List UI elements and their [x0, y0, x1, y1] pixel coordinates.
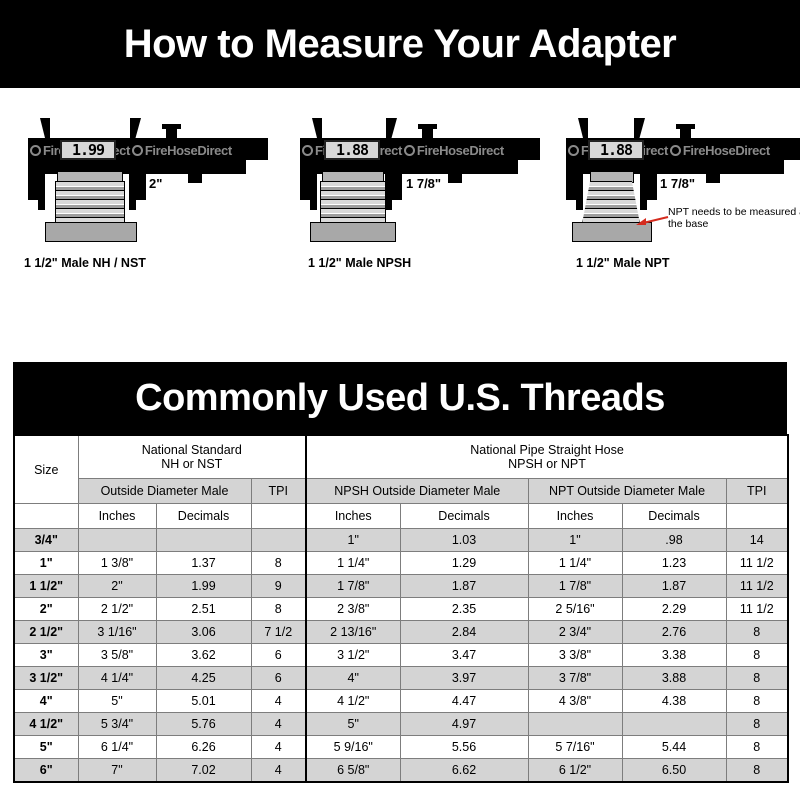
- cell-size: 3": [14, 644, 78, 667]
- caliper-upper-knife-right-icon: [386, 118, 397, 140]
- caliper-fixed-jaw-tip: [310, 194, 317, 210]
- col-header-npsh-decimals: Decimals: [400, 504, 528, 529]
- cell-nh_in: 5 3/4": [78, 713, 156, 736]
- cell-npsh_dec: 4.47: [400, 690, 528, 713]
- table-row: 4 1/2"5 3/4"5.7645"4.978: [14, 713, 788, 736]
- cell-size: 2 1/2": [14, 621, 78, 644]
- table-head: Size National Standard NH or NST Nationa…: [14, 435, 788, 529]
- cell-tpi: 14: [726, 529, 788, 552]
- group-line-1: National Standard: [79, 443, 306, 457]
- cell-npsh_in: 2 3/8": [306, 598, 400, 621]
- caliper-sliding-jaw-tip: [385, 194, 392, 210]
- cell-nh_dec: 5.76: [156, 713, 251, 736]
- cell-npsh_in: 1 1/4": [306, 552, 400, 575]
- table-header-row-groups: Size National Standard NH or NST Nationa…: [14, 435, 788, 479]
- caliper-illustration: FireHoseDirectFireHoseDirect 1.88 1 7/8"…: [548, 110, 800, 250]
- table-row: 6"7"7.0246 5/8"6.626 1/2"6.508: [14, 759, 788, 783]
- caliper-upper-knife-left-icon: [40, 118, 50, 140]
- cell-nh_dec: 3.06: [156, 621, 251, 644]
- caliper-sliding-jaw-tip: [129, 194, 136, 210]
- cell-nh_in: 6 1/4": [78, 736, 156, 759]
- cell-tpi: 8: [726, 621, 788, 644]
- cell-nh_tpi: 6: [251, 667, 306, 690]
- caliper-fixed-jaw: [300, 138, 317, 200]
- cell-nh_dec: 6.26: [156, 736, 251, 759]
- diagram-caption: 1 1/2" Male NPT: [548, 256, 800, 270]
- cell-tpi: 8: [726, 736, 788, 759]
- cell-nh_dec: 5.01: [156, 690, 251, 713]
- diagram-caption: 1 1/2" Male NPSH: [282, 256, 570, 270]
- cell-npsh_dec: 1.87: [400, 575, 528, 598]
- cell-nh_in: 3 1/16": [78, 621, 156, 644]
- col-header-npt-inches: Inches: [528, 504, 622, 529]
- cell-nh_in: 1 3/8": [78, 552, 156, 575]
- group-line-2: NH or NST: [79, 457, 306, 471]
- cell-npt_dec: 6.50: [622, 759, 726, 783]
- cell-npsh_in: 4 1/2": [306, 690, 400, 713]
- fitting-base: [310, 222, 396, 242]
- caliper-fixed-jaw-tip: [38, 194, 45, 210]
- cell-size: 1 1/2": [14, 575, 78, 598]
- cell-npt_dec: [622, 713, 726, 736]
- threads-table: Size National Standard NH or NST Nationa…: [13, 434, 789, 783]
- cell-nh_tpi: 8: [251, 598, 306, 621]
- cell-nh_dec: [156, 529, 251, 552]
- cell-nh_dec: 2.51: [156, 598, 251, 621]
- table-row: 5"6 1/4"6.2645 9/16"5.565 7/16"5.448: [14, 736, 788, 759]
- caliper-lcd-display: 1.88: [588, 140, 644, 160]
- cell-npsh_in: 5": [306, 713, 400, 736]
- cell-tpi: 8: [726, 667, 788, 690]
- cell-npt_dec: 3.38: [622, 644, 726, 667]
- cell-npt_dec: 5.44: [622, 736, 726, 759]
- cell-npsh_dec: 3.97: [400, 667, 528, 690]
- cell-npsh_in: 3 1/2": [306, 644, 400, 667]
- cell-size: 4": [14, 690, 78, 713]
- cell-nh_tpi: 7 1/2: [251, 621, 306, 644]
- caliper-lcd-display: 1.88: [324, 140, 380, 160]
- cell-npt_in: 1": [528, 529, 622, 552]
- cell-size: 4 1/2": [14, 713, 78, 736]
- caliper-sliding-jaw: [129, 138, 146, 200]
- cell-tpi: 11 1/2: [726, 575, 788, 598]
- cell-npt_in: 3 7/8": [528, 667, 622, 690]
- table-body: 3/4"1"1.031".98141"1 3/8"1.3781 1/4"1.29…: [14, 529, 788, 783]
- caliper-lock-lug: [188, 174, 202, 183]
- col-header-npt-tpi: TPI: [726, 479, 788, 504]
- cell-npsh_in: 1": [306, 529, 400, 552]
- cell-nh_dec: 7.02: [156, 759, 251, 783]
- threads-table-section: Commonly Used U.S. Threads Size National…: [13, 362, 787, 787]
- cell-npt_in: 5 7/16": [528, 736, 622, 759]
- caliper-upper-knife-left-icon: [312, 118, 322, 140]
- table-row: 4"5"5.0144 1/2"4.474 3/8"4.388: [14, 690, 788, 713]
- cell-npsh_dec: 4.97: [400, 713, 528, 736]
- caliper-sliding-jaw-tip: [640, 194, 647, 210]
- col-header-nh-inches: Inches: [78, 504, 156, 529]
- cell-nh_dec: 1.99: [156, 575, 251, 598]
- cell-nh_tpi: 4: [251, 713, 306, 736]
- cell-nh_tpi: 8: [251, 552, 306, 575]
- cell-npt_dec: 3.88: [622, 667, 726, 690]
- cell-npt_in: 3 3/8": [528, 644, 622, 667]
- caliper-upper-knife-right-icon: [130, 118, 141, 140]
- cell-npt_in: 4 3/8": [528, 690, 622, 713]
- page-title: How to Measure Your Adapter: [0, 0, 800, 88]
- diagram-nh-nst: FireHoseDirectFireHoseDirect 1.99 2" 1 1…: [10, 88, 272, 356]
- dimension-label: 1 7/8": [406, 176, 441, 191]
- cell-npsh_dec: 6.62: [400, 759, 528, 783]
- cell-npt_dec: 1.87: [622, 575, 726, 598]
- fitting-threads: [55, 181, 125, 224]
- col-header-size-blank: [14, 504, 78, 529]
- cell-npt_dec: 2.29: [622, 598, 726, 621]
- caliper-upper-knife-left-icon: [578, 118, 588, 140]
- cell-npt_in: 2 5/16": [528, 598, 622, 621]
- dimension-label: 2": [149, 176, 162, 191]
- cell-npsh_dec: 3.47: [400, 644, 528, 667]
- caliper-illustration: FireHoseDirectFireHoseDirect 1.99 2": [10, 110, 272, 250]
- table-row: 2"2 1/2"2.5182 3/8"2.352 5/16"2.2911 1/2: [14, 598, 788, 621]
- cell-tpi: 8: [726, 713, 788, 736]
- diagram-npsh: FireHoseDirectFireHoseDirect 1.88 1 7/8"…: [282, 88, 544, 356]
- cell-npt_in: [528, 713, 622, 736]
- cell-nh_in: 5": [78, 690, 156, 713]
- cell-nh_in: 4 1/4": [78, 667, 156, 690]
- cell-nh_in: 2": [78, 575, 156, 598]
- cell-tpi: 8: [726, 644, 788, 667]
- npt-note-text: NPT needs to be measured at the base: [668, 206, 800, 230]
- cell-size: 6": [14, 759, 78, 783]
- col-header-nh-od: Outside Diameter Male: [78, 479, 251, 504]
- caliper-fixed-jaw-tip: [576, 194, 583, 210]
- cell-npsh_in: 4": [306, 667, 400, 690]
- caliper-lock-lug: [706, 174, 720, 183]
- cell-nh_in: 2 1/2": [78, 598, 156, 621]
- cell-npsh_in: 1 7/8": [306, 575, 400, 598]
- table-header-row-subheaders: Outside Diameter Male TPI NPSH Outside D…: [14, 479, 788, 504]
- fitting-base: [45, 222, 137, 242]
- cell-size: 3 1/2": [14, 667, 78, 690]
- caliper-lock-lug: [448, 174, 462, 183]
- cell-npt_in: 2 3/4": [528, 621, 622, 644]
- caliper-illustration: FireHoseDirectFireHoseDirect 1.88 1 7/8": [282, 110, 544, 250]
- caliper-fixed-jaw: [28, 138, 45, 200]
- cell-nh_tpi: 4: [251, 736, 306, 759]
- cell-npt_in: 1 7/8": [528, 575, 622, 598]
- cell-npsh_dec: 5.56: [400, 736, 528, 759]
- col-header-nh-tpi: TPI: [251, 479, 306, 504]
- caliper-upper-knife-right-icon: [634, 118, 645, 140]
- fitting-threads: [320, 181, 386, 224]
- cell-npsh_in: 6 5/8": [306, 759, 400, 783]
- cell-size: 2": [14, 598, 78, 621]
- diagram-section: FireHoseDirect FireHoseDirectFireHoseDir…: [0, 88, 800, 356]
- table-row: 1"1 3/8"1.3781 1/4"1.291 1/4"1.2311 1/2: [14, 552, 788, 575]
- cell-npsh_in: 2 13/16": [306, 621, 400, 644]
- cell-nh_dec: 3.62: [156, 644, 251, 667]
- col-header-npsh-inches: Inches: [306, 504, 400, 529]
- cell-nh_dec: 4.25: [156, 667, 251, 690]
- cell-npt_dec: 4.38: [622, 690, 726, 713]
- cell-npsh_dec: 2.35: [400, 598, 528, 621]
- cell-npt_dec: 1.23: [622, 552, 726, 575]
- table-row: 3/4"1"1.031".9814: [14, 529, 788, 552]
- cell-nh_tpi: 9: [251, 575, 306, 598]
- cell-tpi: 8: [726, 690, 788, 713]
- table-row: 3"3 5/8"3.6263 1/2"3.473 3/8"3.388: [14, 644, 788, 667]
- col-group-national-standard: National Standard NH or NST: [78, 435, 306, 479]
- cell-npsh_in: 5 9/16": [306, 736, 400, 759]
- table-row: 1 1/2"2"1.9991 7/8"1.871 7/8"1.8711 1/2: [14, 575, 788, 598]
- table-title: Commonly Used U.S. Threads: [135, 377, 665, 420]
- caliper-lcd-display: 1.99: [60, 140, 116, 160]
- caliper-sliding-jaw: [385, 138, 402, 200]
- col-header-npt-od: NPT Outside Diameter Male: [528, 479, 726, 504]
- col-header-size: Size: [14, 435, 78, 504]
- diagram-npt: FireHoseDirectFireHoseDirect 1.88 1 7/8"…: [548, 88, 800, 356]
- table-title-band: Commonly Used U.S. Threads: [13, 362, 787, 434]
- table-header-row-units: Inches Decimals Inches Decimals Inches D…: [14, 504, 788, 529]
- cell-npt_dec: .98: [622, 529, 726, 552]
- cell-tpi: 11 1/2: [726, 598, 788, 621]
- col-header-nh-decimals: Decimals: [156, 504, 251, 529]
- cell-tpi: 8: [726, 759, 788, 783]
- group-line-1: National Pipe Straight Hose: [307, 443, 787, 457]
- cell-nh_in: 7": [78, 759, 156, 783]
- cell-size: 3/4": [14, 529, 78, 552]
- col-header-npsh-od: NPSH Outside Diameter Male: [306, 479, 528, 504]
- cell-nh_in: 3 5/8": [78, 644, 156, 667]
- npt-callout-arrow-icon: [634, 214, 670, 226]
- cell-nh_tpi: 4: [251, 759, 306, 783]
- cell-npsh_dec: 1.29: [400, 552, 528, 575]
- cell-npt_dec: 2.76: [622, 621, 726, 644]
- cell-npsh_dec: 2.84: [400, 621, 528, 644]
- cell-nh_tpi: 4: [251, 690, 306, 713]
- diagram-caption: 1 1/2" Male NH / NST: [10, 256, 286, 270]
- col-group-npsh-npt: National Pipe Straight Hose NPSH or NPT: [306, 435, 788, 479]
- cell-nh_tpi: [251, 529, 306, 552]
- cell-npt_in: 1 1/4": [528, 552, 622, 575]
- table-row: 3 1/2"4 1/4"4.2564"3.973 7/8"3.888: [14, 667, 788, 690]
- page-title-band: How to Measure Your Adapter: [0, 0, 800, 88]
- caliper-fixed-jaw: [566, 138, 583, 200]
- cell-size: 1": [14, 552, 78, 575]
- cell-npt_in: 6 1/2": [528, 759, 622, 783]
- cell-tpi: 11 1/2: [726, 552, 788, 575]
- cell-nh_tpi: 6: [251, 644, 306, 667]
- cell-size: 5": [14, 736, 78, 759]
- dimension-label: 1 7/8": [660, 176, 695, 191]
- table-row: 2 1/2"3 1/16"3.067 1/22 13/16"2.842 3/4"…: [14, 621, 788, 644]
- group-line-2: NPSH or NPT: [307, 457, 787, 471]
- cell-npsh_dec: 1.03: [400, 529, 528, 552]
- cell-nh_in: [78, 529, 156, 552]
- cell-nh_dec: 1.37: [156, 552, 251, 575]
- col-header-nh-tpi-blank: [251, 504, 306, 529]
- fitting-tapered-threads: [582, 181, 640, 224]
- col-header-npt-decimals: Decimals: [622, 504, 726, 529]
- col-header-tpi-blank: [726, 504, 788, 529]
